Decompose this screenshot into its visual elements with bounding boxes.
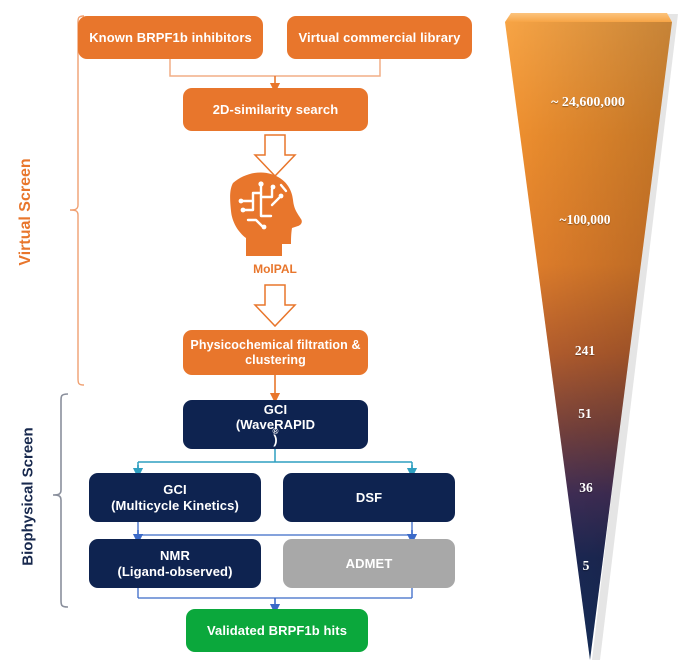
hollow-arrow-to-filtration [255,285,295,326]
node-validated-hits[interactable]: Validated BRPF1b hits [186,609,368,652]
node-dsf-label: DSF [356,490,382,505]
connector-sources-merge [170,59,380,76]
node-gci-multicycle-line1: GCI [163,482,186,497]
funnel-value-6: 5 [552,558,620,574]
node-nmr-line1: NMR [160,548,190,563]
funnel-value-2: ~100,000 [530,212,640,228]
stage-label-biophysical-screen: Biophysical Screen [20,422,37,572]
node-gci-waverapid-line1: GCI [264,402,287,417]
connector-row3-merge [138,587,412,598]
stage-label-virtual-screen: Virtual Screen [17,152,35,272]
hollow-arrow-to-molpal [255,135,295,176]
connector-row2-to-row3 [138,521,412,535]
connector-split-row2 [138,448,412,470]
node-nmr[interactable]: NMR (Ligand-observed) [89,539,261,588]
node-admet[interactable]: ADMET [283,539,455,588]
node-gci-multicycle-line2: (Multicycle Kinetics) [111,498,239,513]
node-similarity-search-label: 2D-similarity search [213,102,339,117]
node-gci-multicycle[interactable]: GCI (Multicycle Kinetics) [89,473,261,522]
node-dsf[interactable]: DSF [283,473,455,522]
node-gci-waverapid-line2: (WaveRAPID®) [236,417,315,448]
node-virtual-library[interactable]: Virtual commercial library [287,16,472,59]
node-validated-hits-label: Validated BRPF1b hits [207,623,347,638]
node-known-inhibitors-label: Known BRPF1b inhibitors [89,30,252,45]
funnel-value-1: ~ 24,600,000 [528,95,648,111]
molpal-brain-head-icon [230,172,302,256]
node-gci-waverapid[interactable]: GCI (WaveRAPID®) [183,400,368,449]
biophysical-screen-bracket [53,394,68,607]
funnel-value-5: 36 [548,480,624,496]
node-physicochemical-line1: Physicochemical filtration & [190,338,360,353]
node-virtual-library-label: Virtual commercial library [298,30,460,45]
node-physicochemical-filtration[interactable]: Physicochemical filtration & clustering [183,330,368,375]
node-nmr-line2: (Ligand-observed) [117,564,232,579]
funnel-value-3: 241 [540,343,630,359]
diagram-canvas: Virtual Screen Biophysical Screen Known … [0,0,700,666]
molpal-label: MolPAL [215,262,335,276]
virtual-screen-bracket [70,16,84,385]
node-admet-label: ADMET [346,556,393,571]
node-known-inhibitors[interactable]: Known BRPF1b inhibitors [78,16,263,59]
funnel-value-4: 51 [545,406,625,422]
node-similarity-search[interactable]: 2D-similarity search [183,88,368,131]
funnel-top-bevel [505,13,672,22]
node-physicochemical-line2: clustering [245,353,306,368]
